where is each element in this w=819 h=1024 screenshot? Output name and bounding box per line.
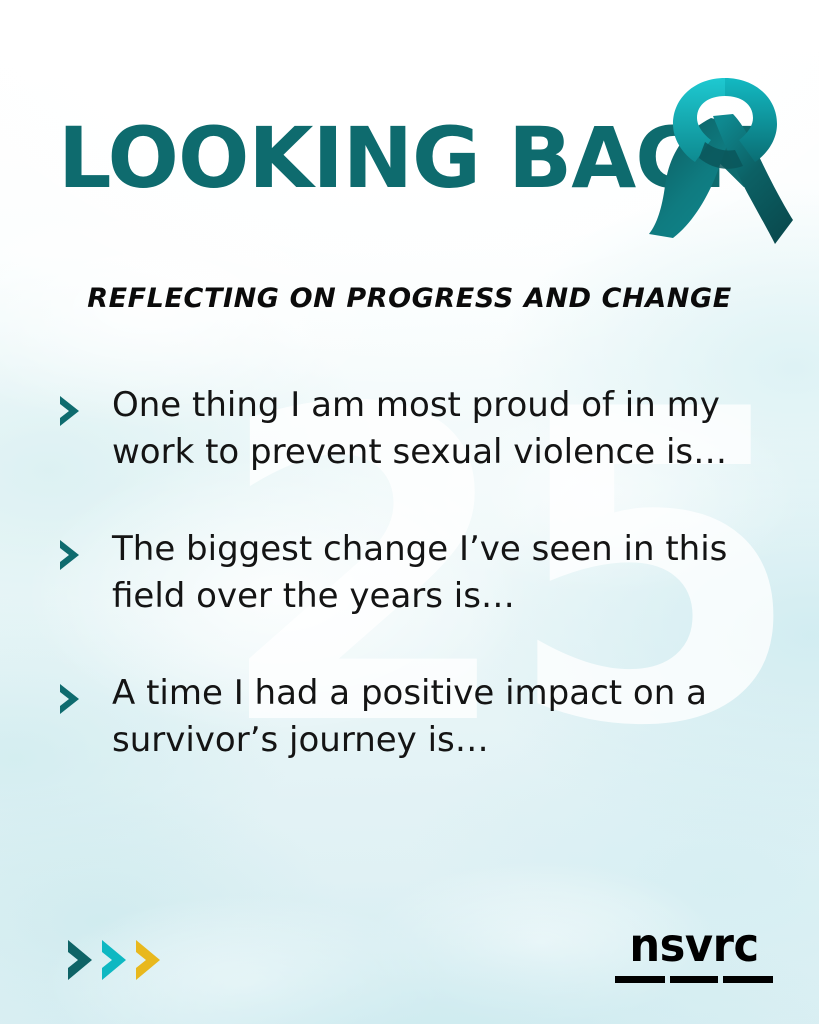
prompt-text: A time I had a positive impact on a surv… (112, 670, 752, 764)
list-item: A time I had a positive impact on a surv… (58, 670, 758, 764)
page-subtitle: REFLECTING ON PROGRESS AND CHANGE (0, 283, 819, 314)
prompt-text: One thing I am most proud of in my work … (112, 382, 752, 476)
list-item: One thing I am most proud of in my work … (58, 382, 758, 476)
poster-canvas: 25 LOOKING BACK (0, 0, 819, 1024)
list-item: The biggest change I’ve seen in this fie… (58, 526, 758, 620)
logo-rule (723, 976, 773, 983)
awareness-ribbon-icon (643, 74, 803, 254)
logo-rule (670, 976, 718, 983)
chevron-right-icon (58, 538, 84, 572)
nsvrc-underline-rules (615, 976, 773, 983)
chevron-right-icon (58, 682, 84, 716)
logo-rule (615, 976, 665, 983)
prompt-list: One thing I am most proud of in my work … (58, 382, 758, 764)
chevron-right-icon (58, 394, 84, 428)
nsvrc-wordmark: nsvrc (617, 922, 771, 968)
triple-chevron-icon (66, 938, 178, 982)
prompt-text: The biggest change I’ve seen in this fie… (112, 526, 752, 620)
nsvrc-logo: nsvrc (612, 922, 776, 992)
